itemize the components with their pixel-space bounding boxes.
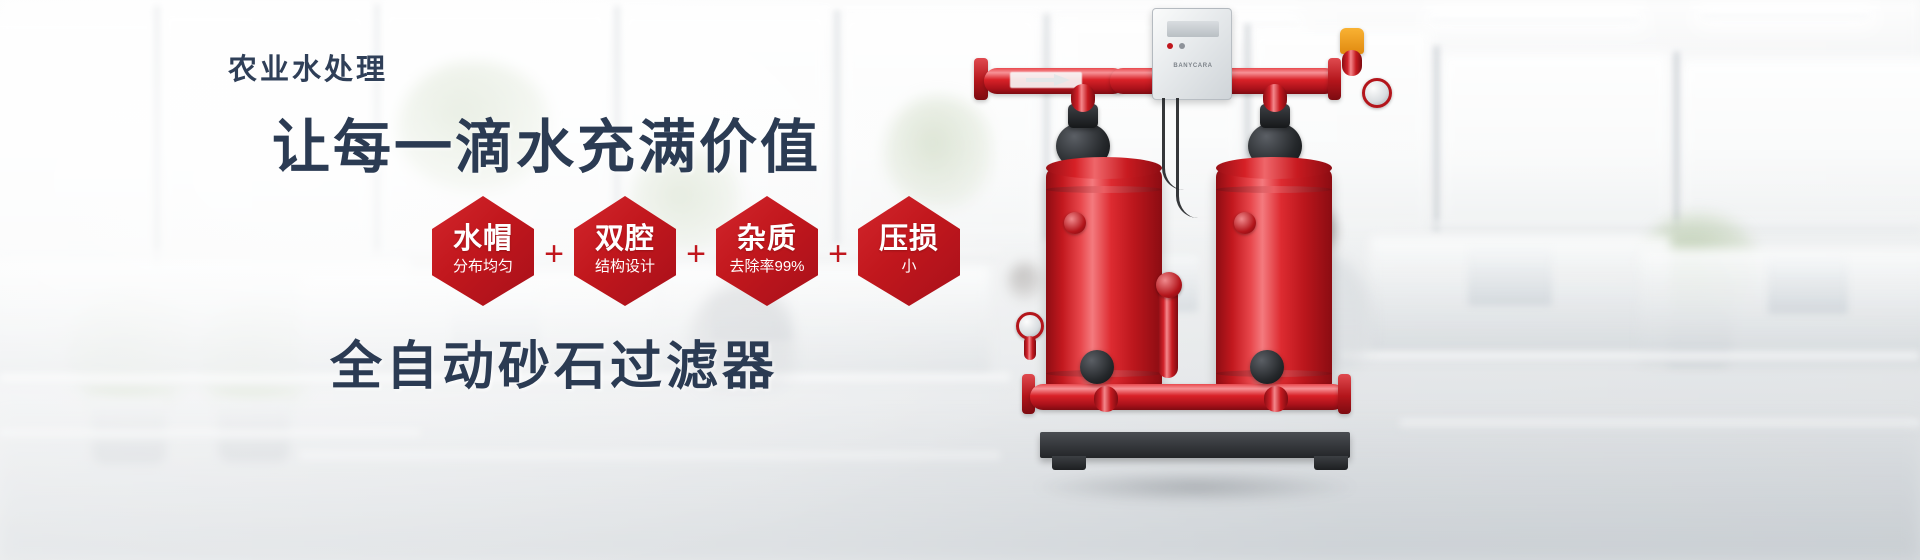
pipe-flange [1338, 374, 1351, 414]
gauge-stem [1024, 336, 1036, 360]
tank-access-port [1234, 212, 1256, 234]
product-name-title: 全自动砂石过滤器 [330, 324, 778, 399]
tank-downpipe [1094, 386, 1118, 412]
base-foot [1052, 456, 1086, 470]
pressure-gauge [1362, 78, 1392, 108]
controller-brand-label: BANYCARA [1163, 63, 1223, 69]
flow-arrow-icon [1026, 74, 1072, 86]
badge-title: 杂质 [737, 224, 797, 255]
badge-subtitle: 小 [901, 259, 916, 276]
sand-filter-equipment-image: BANYCARA [930, 0, 1490, 560]
tank-ring [1216, 186, 1332, 193]
feature-badge-row: 水帽 分布均匀 + 双腔 结构设计 + 杂质 去除率99% + 压损 小 [432, 196, 960, 306]
badge-title: 双腔 [595, 224, 655, 255]
tank-riser-pipe [1071, 84, 1095, 112]
tank-downpipe [1264, 386, 1288, 412]
controller-display [1167, 21, 1219, 37]
equipment-base-frame [1040, 432, 1350, 458]
controller-box: BANYCARA [1152, 8, 1232, 100]
eyebrow-text: 农业水处理 [228, 46, 388, 88]
page-title: 让每一滴水充满价值 [272, 100, 821, 184]
badge-subtitle: 分布均匀 [453, 259, 513, 276]
tank-access-port [1064, 212, 1086, 234]
badge-subtitle: 去除率99% [729, 259, 804, 276]
feature-badge-dual-chamber: 双腔 结构设计 [574, 196, 676, 306]
equipment-ground-shadow [1030, 470, 1360, 504]
tank-riser-pipe [1263, 84, 1287, 112]
tank-top-cap [1046, 157, 1162, 179]
feature-badge-water-cap: 水帽 分布均匀 [432, 196, 534, 306]
tank-ring [1046, 186, 1162, 193]
side-port [1156, 272, 1182, 298]
badge-subtitle: 结构设计 [595, 259, 655, 276]
controller-indicator-dot [1167, 43, 1173, 49]
side-drain-pipe [1158, 286, 1178, 378]
lower-valve [1080, 350, 1114, 384]
lower-valve [1250, 350, 1284, 384]
promo-banner: 农业水处理 让每一滴水充满价值 全自动砂石过滤器 水帽 分布均匀 + 双腔 结构… [0, 0, 1920, 560]
base-foot [1314, 456, 1348, 470]
air-release-stem [1342, 50, 1362, 76]
feature-badge-impurity: 杂质 去除率99% [716, 196, 818, 306]
plus-separator-icon: + [676, 237, 716, 271]
outlet-manifold-pipe [1030, 384, 1346, 410]
pipe-flange [1328, 58, 1341, 100]
controller-cable [1176, 98, 1206, 218]
plus-separator-icon: + [534, 237, 574, 271]
controller-indicator-dot [1179, 43, 1185, 49]
tank-top-cap [1216, 157, 1332, 179]
plus-separator-icon: + [818, 237, 858, 271]
badge-title: 水帽 [453, 224, 513, 255]
